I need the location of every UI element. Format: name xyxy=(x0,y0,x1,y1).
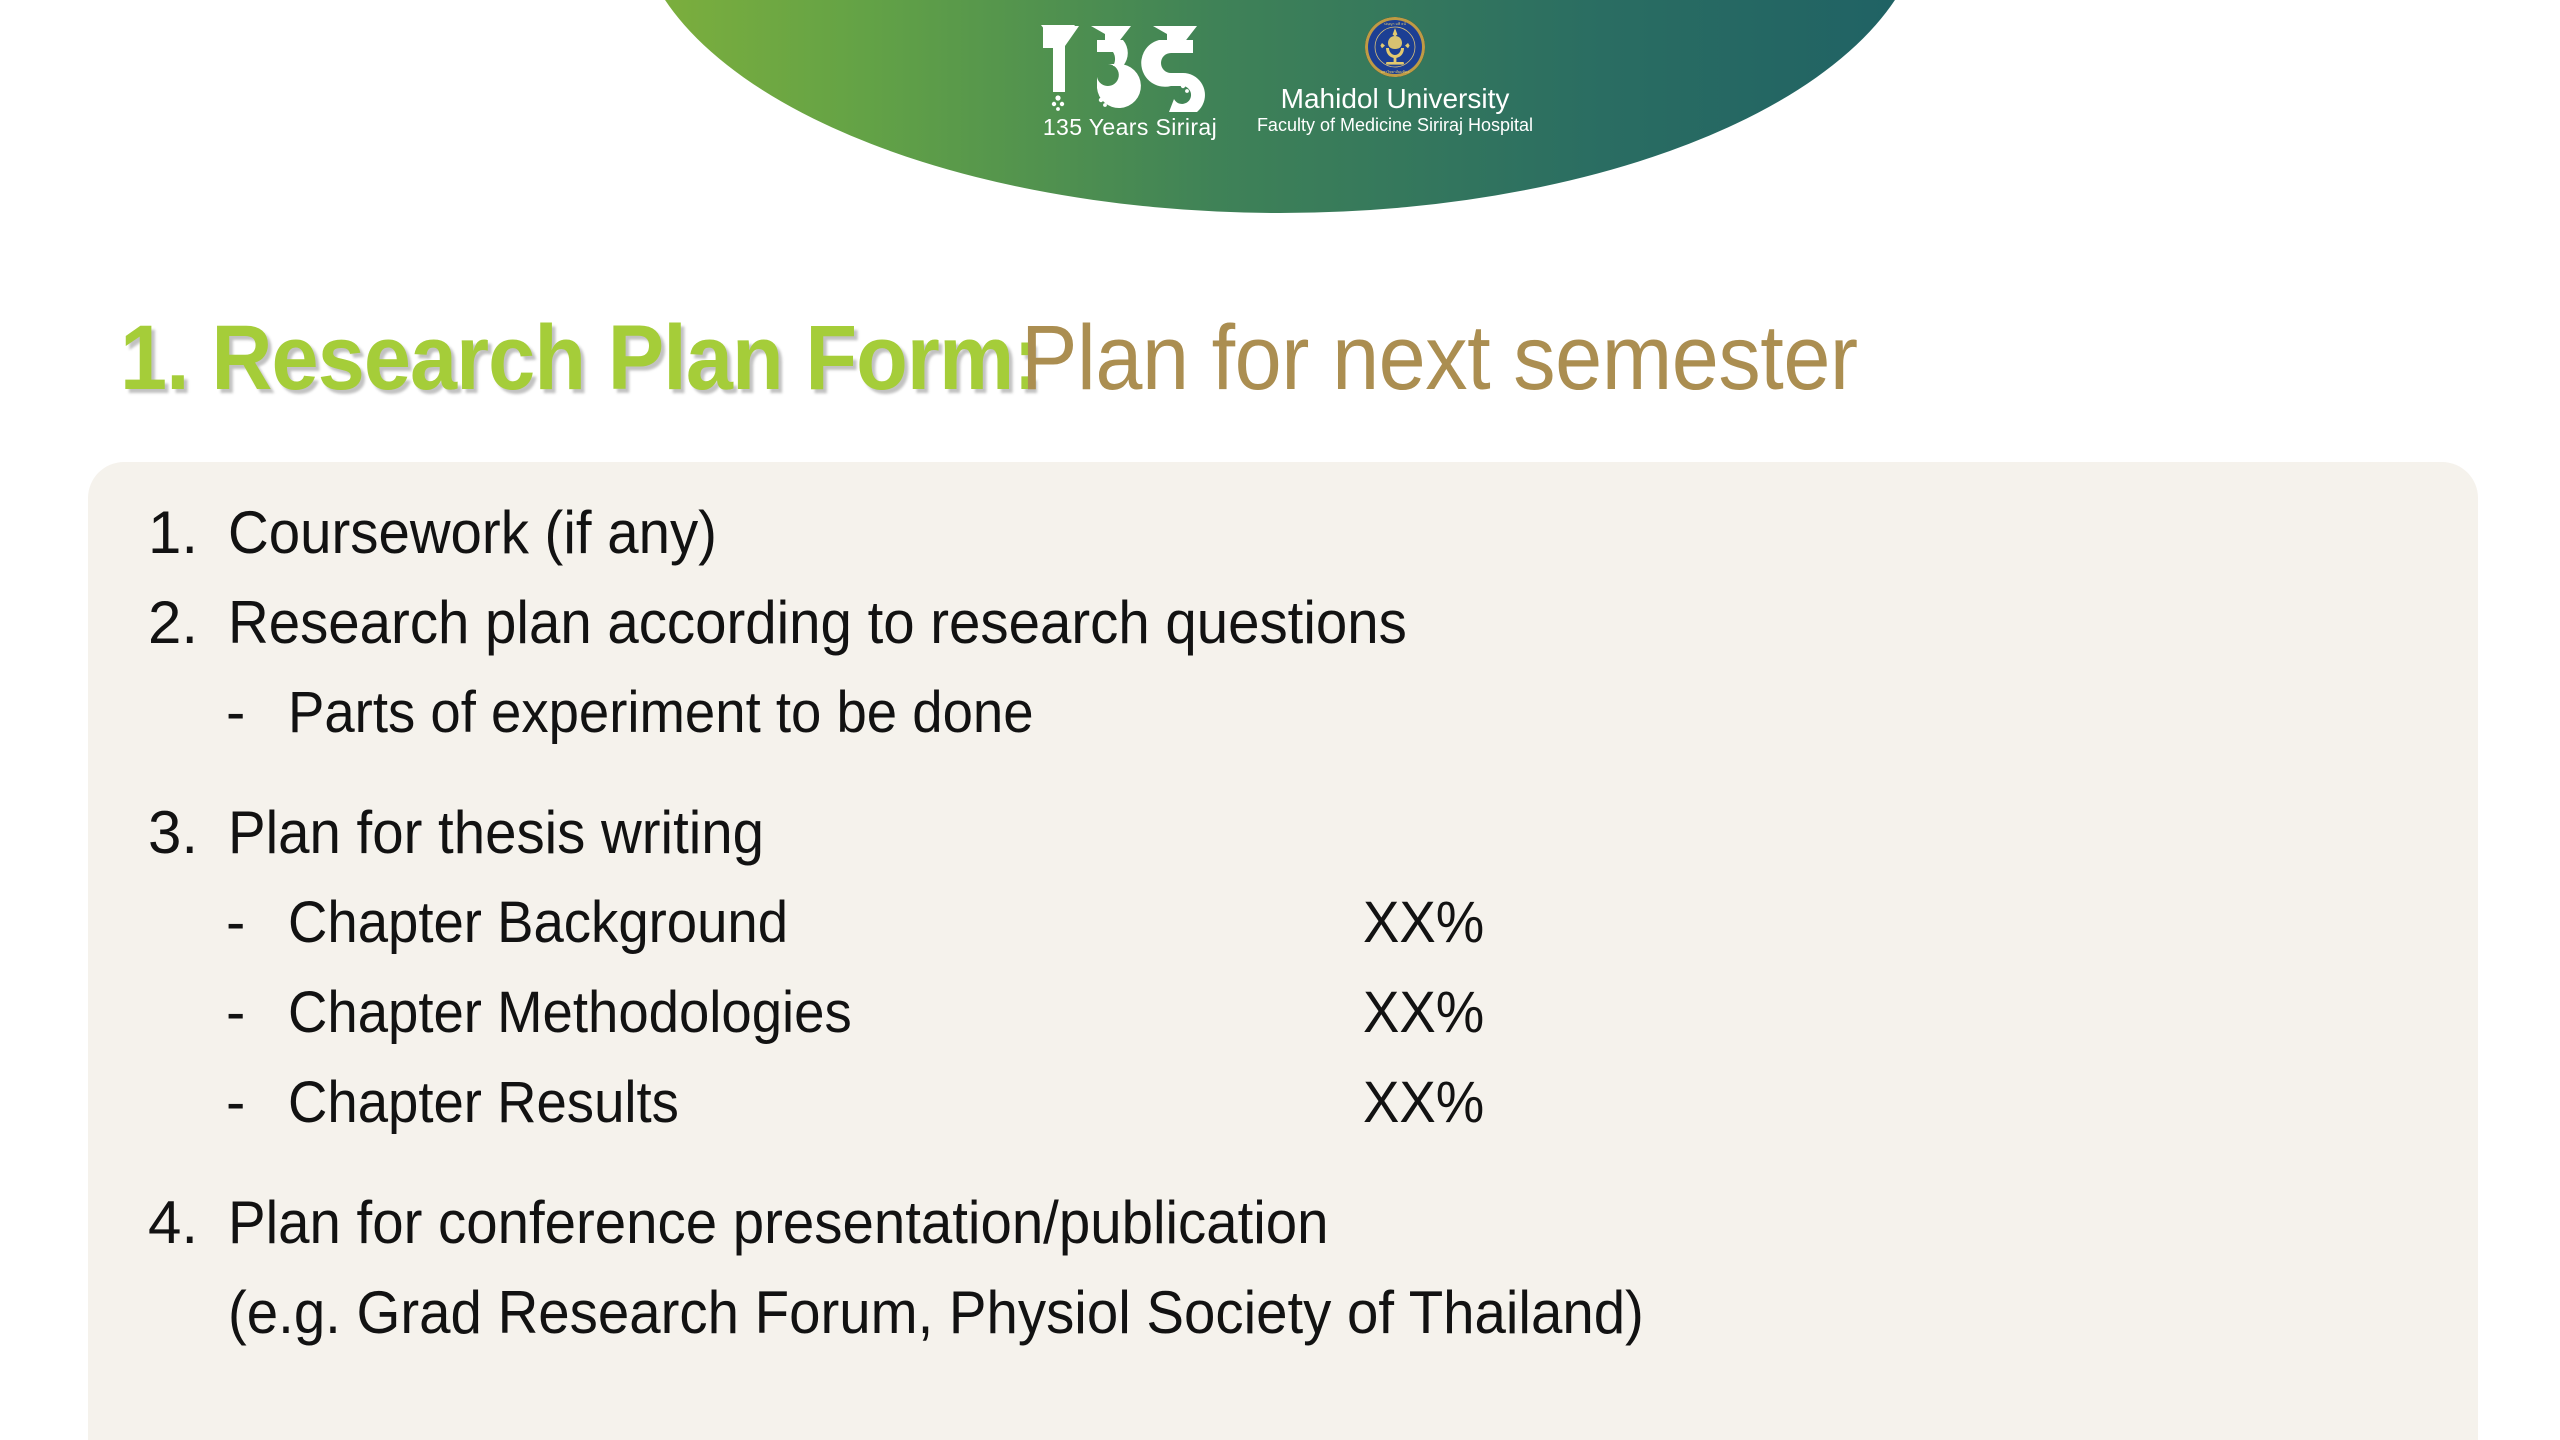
list-item: -Parts of experiment to be done xyxy=(148,668,2448,758)
list-item-marker: 4. xyxy=(148,1178,228,1268)
list-item: 2.Research plan according to research qu… xyxy=(148,578,2448,668)
list-item-marker: - xyxy=(226,878,288,968)
list-spacer xyxy=(148,758,2448,788)
list-item: 1.Coursework (if any) xyxy=(148,488,2448,578)
135-anniversary-mark-icon xyxy=(1035,20,1225,112)
list-item-label: Plan for conference presentation/publica… xyxy=(228,1178,1329,1268)
svg-text:มหาวิทยาลัยมหิดล: มหาวิทยาลัยมหิดล xyxy=(1381,70,1410,74)
mahidol-university-logo: ปญฺญา มหิ ธนํ มหาวิทยาลัยมหิดล Mahidol U… xyxy=(1245,16,1545,136)
slide-title-main: 1. Research Plan Form: xyxy=(120,306,1041,411)
content-panel: 1.Coursework (if any)2.Research plan acc… xyxy=(88,462,2478,1440)
list-item-label: Chapter Results xyxy=(288,1058,679,1148)
list-item: -Chapter ResultsXX% xyxy=(148,1058,2448,1148)
mahidol-university-emblem-icon: ปญฺญา มหิ ธนํ มหาวิทยาลัยมหิดล xyxy=(1364,16,1426,78)
siriraj-135-logo: 135 Years Siriraj xyxy=(1020,20,1240,160)
banner-logos: 135 Years Siriraj ปญฺญา มหิ ธนํ มหาวิทยา… xyxy=(0,0,2560,230)
list-item: -Chapter BackgroundXX% xyxy=(148,878,2448,968)
list-item: 3.Plan for thesis writing xyxy=(148,788,2448,878)
list-spacer xyxy=(148,1148,2448,1178)
list-item-label: Chapter Methodologies xyxy=(288,968,852,1058)
list-item-label: Coursework (if any) xyxy=(228,488,717,578)
slide-title-subtitle: Plan for next semester xyxy=(1021,306,1858,411)
content-list: 1.Coursework (if any)2.Research plan acc… xyxy=(148,488,2448,1358)
slide-title: 1. Research Plan Form: Plan for next sem… xyxy=(120,306,2540,426)
list-item-label: Chapter Background xyxy=(288,878,788,968)
list-item-marker: - xyxy=(226,1058,288,1148)
list-item-percent: XX% xyxy=(1363,968,1484,1058)
list-item-continuation-label: (e.g. Grad Research Forum, Physiol Socie… xyxy=(228,1268,1644,1358)
list-item-label: Parts of experiment to be done xyxy=(288,668,1034,758)
list-item: 4.Plan for conference presentation/publi… xyxy=(148,1178,2448,1268)
list-item-label: Plan for thesis writing xyxy=(228,788,764,878)
list-item-label: Research plan according to research ques… xyxy=(228,578,1407,668)
siriraj-caption: 135 Years Siriraj xyxy=(1020,114,1240,141)
list-item-percent: XX% xyxy=(1363,878,1484,968)
list-item-marker: 1. xyxy=(148,488,228,578)
list-item-percent: XX% xyxy=(1363,1058,1484,1148)
list-item-marker: 3. xyxy=(148,788,228,878)
mahidol-faculty-name: Faculty of Medicine Siriraj Hospital xyxy=(1245,116,1545,136)
list-item-marker: - xyxy=(226,668,288,758)
mahidol-university-name: Mahidol University xyxy=(1245,84,1545,113)
list-item: -Chapter MethodologiesXX% xyxy=(148,968,2448,1058)
list-item-marker: 2. xyxy=(148,578,228,668)
list-item-marker: - xyxy=(226,968,288,1058)
svg-text:ปญฺญา มหิ ธนํ: ปญฺญา มหิ ธนํ xyxy=(1384,22,1406,26)
list-item-continuation: (e.g. Grad Research Forum, Physiol Socie… xyxy=(148,1268,2448,1358)
